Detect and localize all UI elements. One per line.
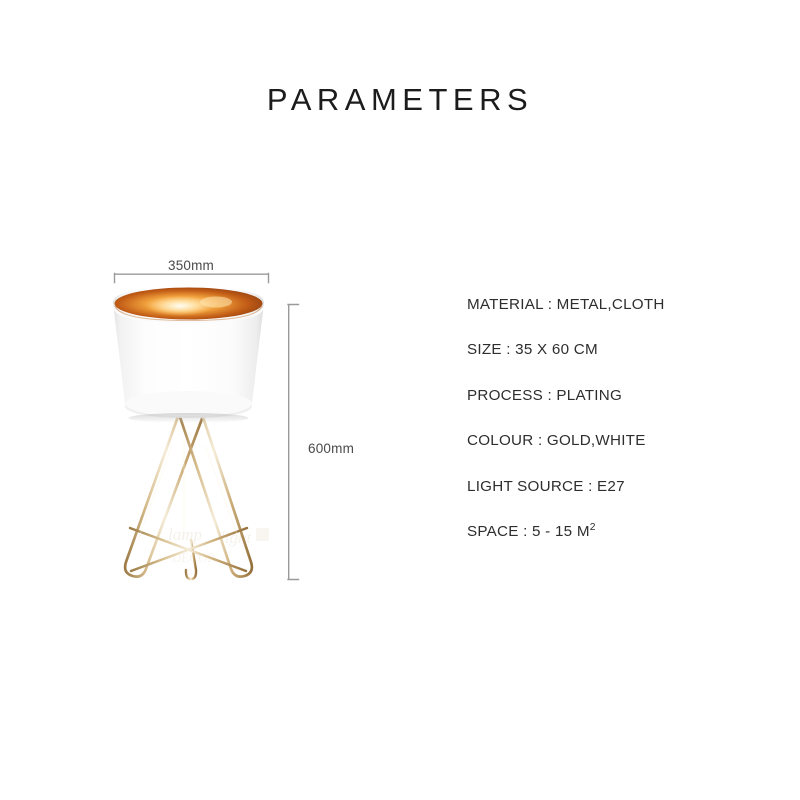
- width-dimension-bracket: [108, 272, 276, 286]
- specification-list: MATERIAL : METAL,CLOTH SIZE : 35 X 60 CM…: [467, 294, 767, 566]
- spec-item-size-text: SIZE : 35 X 60 CM: [467, 341, 598, 358]
- spec-item-material: MATERIAL : METAL,CLOTH: [467, 294, 767, 339]
- spec-item-size: SIZE : 35 X 60 CM: [467, 339, 767, 384]
- height-dimension-label: 600mm: [308, 441, 354, 456]
- spec-item-light-source-text: LIGHT SOURCE : E27: [467, 478, 625, 495]
- lamp-illustration: lamp light DECOR: [60, 240, 400, 620]
- width-dimension-label: 350mm: [114, 258, 268, 273]
- spec-item-process-text: PROCESS : PLATING: [467, 387, 622, 404]
- spec-item-light-source: LIGHT SOURCE : E27: [467, 476, 767, 521]
- product-figure: lamp light DECOR: [0, 0, 420, 800]
- spec-item-process: PROCESS : PLATING: [467, 385, 767, 430]
- lamp-shade: [113, 287, 264, 423]
- height-dimension-bracket: [286, 298, 302, 586]
- spec-item-space-text: SPACE : 5 - 15 M: [467, 523, 590, 540]
- spec-item-space: SPACE : 5 - 15 M2: [467, 521, 767, 566]
- spec-item-material-text: MATERIAL : METAL,CLOTH: [467, 296, 665, 313]
- spec-item-colour-text: COLOUR : GOLD,WHITE: [467, 432, 646, 449]
- spec-item-space-superscript: 2: [590, 522, 596, 533]
- spec-item-colour: COLOUR : GOLD,WHITE: [467, 430, 767, 475]
